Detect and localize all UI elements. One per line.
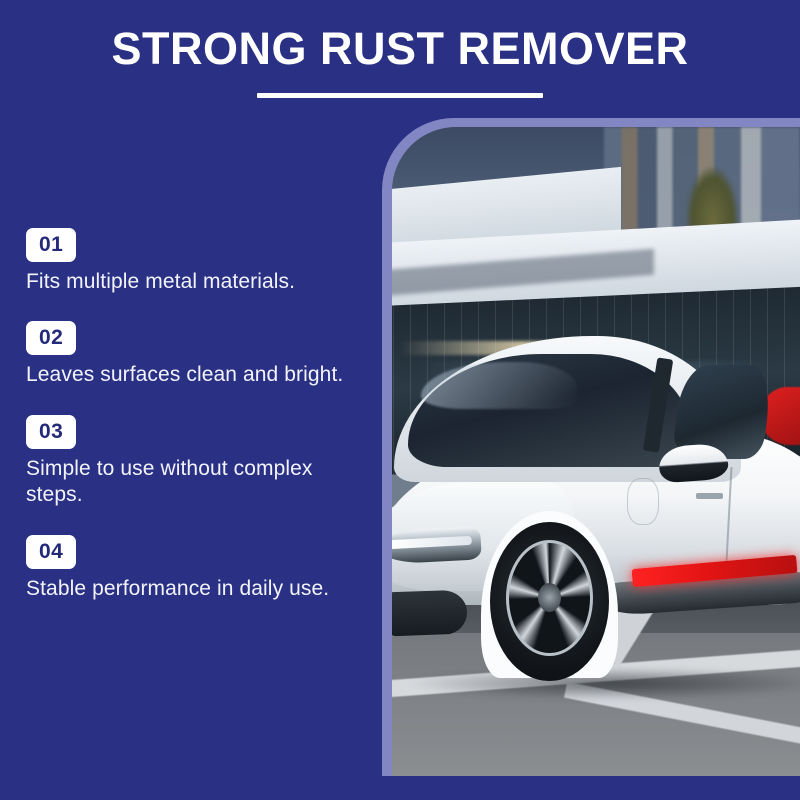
feature-number-badge: 04 bbox=[26, 535, 76, 569]
feature-number-badge: 01 bbox=[26, 228, 76, 262]
feature-description: Simple to use without complex steps. bbox=[26, 456, 374, 509]
car-headlight bbox=[392, 526, 482, 564]
feature-list: 01 Fits multiple metal materials. 02 Lea… bbox=[26, 228, 374, 602]
list-item: 03 Simple to use without complex steps. bbox=[26, 415, 374, 509]
list-item: 04 Stable performance in daily use. bbox=[26, 535, 374, 602]
car-window-highlight bbox=[421, 362, 576, 409]
list-item: 02 Leaves surfaces clean and bright. bbox=[26, 321, 374, 388]
product-photo-image bbox=[392, 127, 800, 776]
poster-header: STRONG RUST REMOVER bbox=[0, 0, 800, 118]
sports-car bbox=[392, 322, 800, 685]
feature-number-badge: 03 bbox=[26, 415, 76, 449]
feature-description: Fits multiple metal materials. bbox=[26, 269, 374, 295]
car-front-air-intake bbox=[392, 589, 468, 635]
product-feature-poster: STRONG RUST REMOVER 01 Fits multiple met… bbox=[0, 0, 800, 800]
title-underline-divider bbox=[257, 93, 543, 98]
feature-number-badge: 02 bbox=[26, 321, 76, 355]
product-photo-panel bbox=[382, 118, 800, 776]
feature-description: Leaves surfaces clean and bright. bbox=[26, 362, 374, 388]
feature-description: Stable performance in daily use. bbox=[26, 576, 374, 602]
car-door-handle bbox=[696, 493, 723, 500]
car-charge-port bbox=[627, 478, 659, 525]
list-item: 01 Fits multiple metal materials. bbox=[26, 228, 374, 295]
page-title: STRONG RUST REMOVER bbox=[111, 26, 688, 71]
